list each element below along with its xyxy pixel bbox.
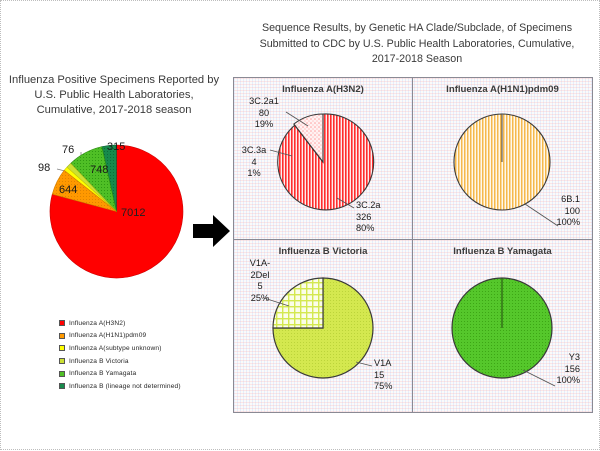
panel-influenza-b-victoria: Influenza B Victoria V1A- 2Del 5 25% V1A… bbox=[234, 240, 413, 412]
overall-pie-svg bbox=[50, 145, 183, 278]
h1n1-pie-svg bbox=[413, 78, 592, 238]
panel-influenza-b-yamagata: Influenza B Yamagata Y3 156 100% bbox=[413, 240, 592, 412]
legend-swatch-icon bbox=[59, 333, 65, 339]
legend-label: Influenza B Victoria bbox=[69, 358, 129, 365]
legend-item-h3n2: Influenza A(H3N2) bbox=[59, 317, 181, 330]
slice-label-b-victoria: 98 bbox=[38, 162, 50, 174]
slice-label-h1n1pdm09: 644 bbox=[59, 184, 77, 196]
legend-label: Influenza B Yamagata bbox=[69, 370, 136, 377]
legend-item-h1n1pdm09: Influenza A(H1N1)pdm09 bbox=[59, 330, 181, 343]
legend-label: Influenza A(subtype unknown) bbox=[69, 345, 162, 352]
right-chart-title: Sequence Results, by Genetic HA Clade/Su… bbox=[241, 21, 593, 68]
byamagata-pie-svg bbox=[413, 240, 592, 412]
legend-swatch-icon bbox=[59, 320, 65, 326]
legend-swatch-icon bbox=[59, 371, 65, 377]
legend-swatch-icon bbox=[59, 383, 65, 389]
legend-item-b-victoria: Influenza B Victoria bbox=[59, 355, 181, 368]
legend: Influenza A(H3N2) Influenza A(H1N1)pdm09… bbox=[59, 317, 181, 393]
figure-canvas: Influenza Positive Specimens Reported by… bbox=[0, 0, 600, 450]
subclade-chart-grid: Influenza A(H3N2) 3C.2a1 80 19% 3C.3a 4 … bbox=[233, 77, 593, 413]
slice-label-h3n2: 7012 bbox=[121, 207, 145, 219]
legend-swatch-icon bbox=[59, 358, 65, 364]
right-title-line-3: 2017-2018 Season bbox=[241, 52, 593, 68]
legend-swatch-icon bbox=[59, 345, 65, 351]
legend-item-a-subtype-unknown: Influenza A(subtype unknown) bbox=[59, 342, 181, 355]
right-title-line-1: Sequence Results, by Genetic HA Clade/Su… bbox=[241, 21, 593, 37]
legend-item-b-undetermined: Influenza B (lineage not determined) bbox=[59, 380, 181, 393]
legend-label: Influenza A(H3N2) bbox=[69, 320, 125, 327]
overall-pie-chart bbox=[50, 145, 183, 278]
panel-influenza-a-h3n2: Influenza A(H3N2) 3C.2a1 80 19% 3C.3a 4 … bbox=[234, 78, 413, 240]
legend-item-b-yamagata: Influenza B Yamagata bbox=[59, 367, 181, 380]
slice-label-b-undetermined: 315 bbox=[107, 141, 125, 153]
slice-label-a-subtype-unknown: 76 bbox=[62, 144, 74, 156]
panel-influenza-a-h1n1pdm09: Influenza A(H1N1)pdm09 6B.1 100 100% bbox=[413, 78, 592, 240]
bvictoria-pie-svg bbox=[234, 240, 413, 412]
slice-label-b-yamagata: 748 bbox=[90, 164, 108, 176]
legend-label: Influenza A(H1N1)pdm09 bbox=[69, 332, 146, 339]
h3n2-pie-svg bbox=[234, 78, 413, 238]
legend-label: Influenza B (lineage not determined) bbox=[69, 383, 181, 390]
right-arrow-icon bbox=[193, 214, 231, 248]
right-title-line-2: Submitted to CDC by U.S. Public Health L… bbox=[241, 37, 593, 53]
